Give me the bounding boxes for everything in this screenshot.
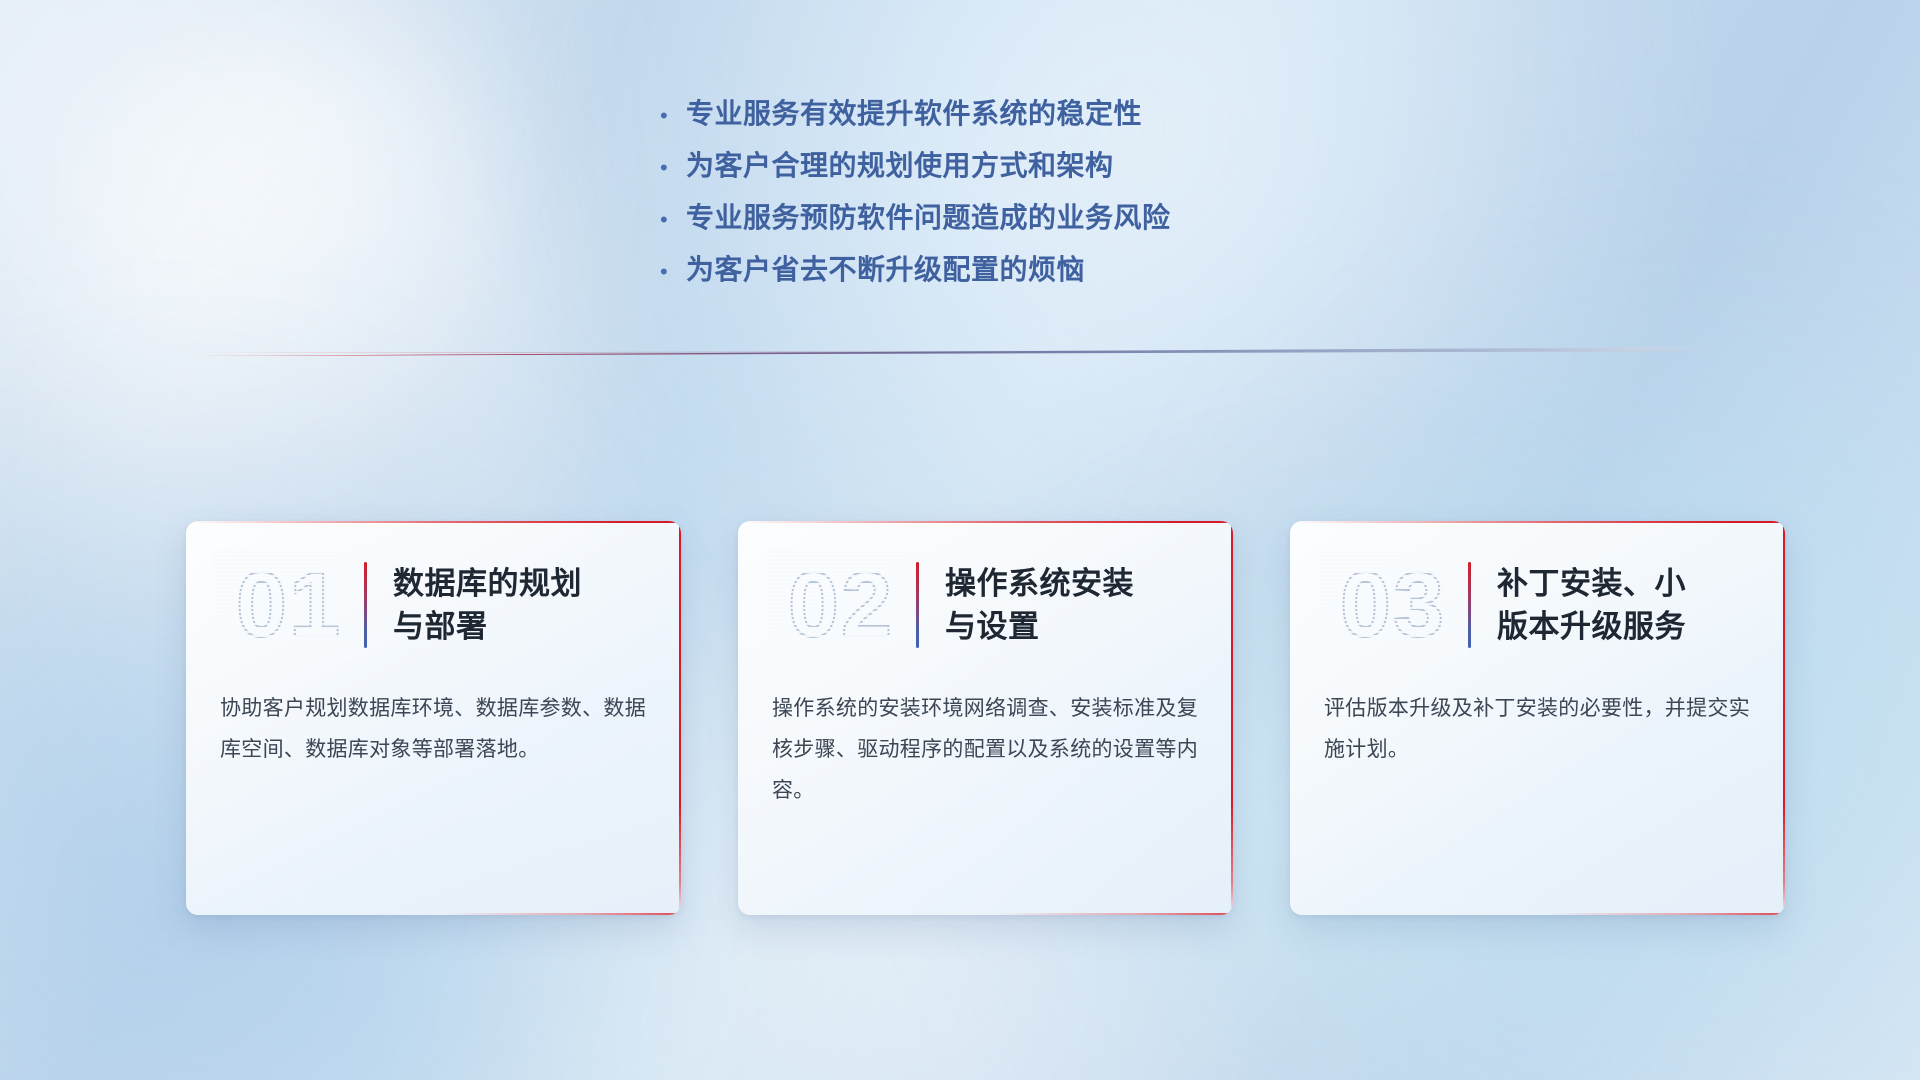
card-title: 操作系统安装 与设置: [945, 562, 1134, 649]
card-header: 03 补丁安装、小 版本升级服务: [1290, 521, 1785, 689]
card-number: 03: [1324, 557, 1462, 653]
card-header: 01 数据库的规划 与部署: [186, 521, 681, 689]
bullet-text: 为客户合理的规划使用方式和架构: [686, 144, 1114, 184]
list-item: • 专业服务预防软件问题造成的业务风险: [660, 196, 1420, 248]
service-card[interactable]: 01 数据库的规划 与部署 协助客户规划数据库环境、数据库参数、数据库空间、数据…: [186, 521, 681, 915]
card-body-text: 评估版本升级及补丁安装的必要性，并提交实施计划。: [1290, 689, 1785, 771]
card-title-divider: [916, 562, 919, 648]
card-header: 02 操作系统安装 与设置: [738, 521, 1233, 689]
card-accent-bottom: [186, 913, 681, 915]
card-accent-bottom: [738, 913, 1233, 915]
service-card[interactable]: 02 操作系统安装 与设置 操作系统的安装环境网络调查、安装标准及复核步骤、驱动…: [738, 521, 1233, 915]
bullet-text: 专业服务预防软件问题造成的业务风险: [686, 196, 1171, 236]
card-number: 02: [772, 557, 910, 653]
bullet-text: 专业服务有效提升软件系统的稳定性: [686, 92, 1142, 132]
service-card[interactable]: 03 补丁安装、小 版本升级服务 评估版本升级及补丁安装的必要性，并提交实施计划…: [1290, 521, 1785, 915]
service-card-row: 01 数据库的规划 与部署 协助客户规划数据库环境、数据库参数、数据库空间、数据…: [186, 521, 1786, 915]
bullet-dot-icon: •: [660, 157, 686, 179]
bullet-dot-icon: •: [660, 105, 686, 127]
card-body-text: 操作系统的安装环境网络调查、安装标准及复核步骤、驱动程序的配置以及系统的设置等内…: [738, 689, 1233, 812]
card-accent-bottom: [1290, 913, 1785, 915]
slide-canvas: • 专业服务有效提升软件系统的稳定性 • 为客户合理的规划使用方式和架构 • 专…: [0, 0, 1920, 1080]
card-number: 01: [220, 557, 358, 653]
card-title-divider: [1468, 562, 1471, 648]
card-body-text: 协助客户规划数据库环境、数据库参数、数据库空间、数据库对象等部署落地。: [186, 689, 681, 771]
section-divider: [185, 347, 1725, 356]
card-title: 数据库的规划 与部署: [393, 562, 582, 649]
bullet-text: 为客户省去不断升级配置的烦恼: [686, 248, 1085, 288]
bullet-dot-icon: •: [660, 261, 686, 283]
background-bloom: [0, 0, 660, 560]
benefits-bullet-list: • 专业服务有效提升软件系统的稳定性 • 为客户合理的规划使用方式和架构 • 专…: [660, 92, 1420, 300]
list-item: • 专业服务有效提升软件系统的稳定性: [660, 92, 1420, 144]
bullet-dot-icon: •: [660, 209, 686, 231]
list-item: • 为客户合理的规划使用方式和架构: [660, 144, 1420, 196]
divider-glow: [185, 349, 1725, 353]
card-title: 补丁安装、小 版本升级服务: [1497, 562, 1686, 649]
card-title-divider: [364, 562, 367, 648]
list-item: • 为客户省去不断升级配置的烦恼: [660, 248, 1420, 300]
